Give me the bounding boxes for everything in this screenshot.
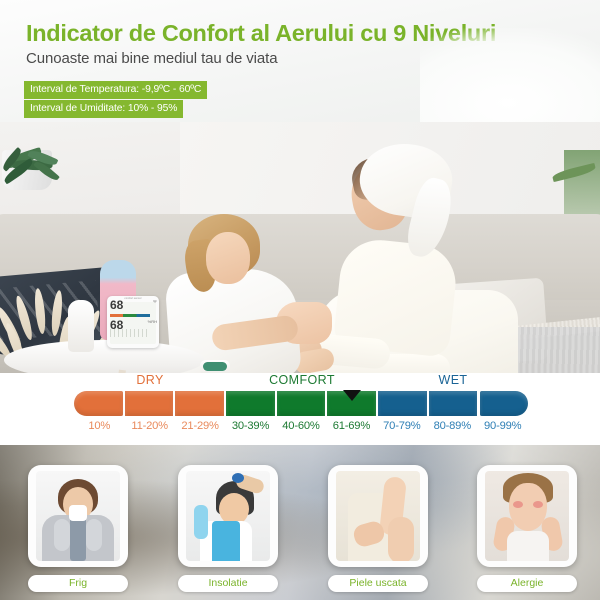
side-table — [4, 340, 204, 373]
current-level-pointer-icon — [343, 390, 361, 401]
condition-label-frig: Frig — [28, 575, 128, 592]
temperature-range-badge: Interval de Temperatura: -9,9ºC - 60ºC — [24, 81, 207, 99]
plant-pot-icon — [2, 150, 52, 190]
category-label-comfort: COMFORT — [226, 373, 378, 387]
scale-segment-6 — [327, 391, 376, 416]
category-label-wet: WET — [378, 373, 528, 387]
page-title: Indicator de Confort al Aerului cu 9 Niv… — [26, 20, 496, 47]
scale-label-4: 30-39% — [225, 420, 275, 436]
scale-label-7: 70-79% — [377, 420, 427, 436]
scale-label-5: 40-60% — [276, 420, 326, 436]
humidity-range-badge: Interval de Umiditate: 10% - 95% — [24, 100, 183, 118]
condition-label-insolatie: Insolatie — [178, 575, 278, 592]
page-subtitle: Cunoaste mai bine mediul tau de viata — [26, 50, 277, 67]
scale-segment-8 — [429, 391, 478, 416]
cream-jar — [200, 360, 230, 373]
condition-card-frig[interactable] — [28, 465, 128, 567]
white-bottle — [68, 300, 94, 352]
header-section: Indicator de Confort al Aerului cu 9 Niv… — [0, 0, 600, 122]
condition-card-insolatie[interactable] — [178, 465, 278, 567]
condition-label-alergie: Alergie — [477, 575, 577, 592]
allergy-face-icon — [485, 471, 569, 561]
conditions-section: Frig Insolatie Piele uscata Alergie — [0, 445, 600, 600]
dry-skin-arm-icon — [336, 471, 420, 561]
scale-segment-3 — [175, 391, 224, 416]
category-label-dry: DRY — [74, 373, 226, 387]
product-infographic: Indicator de Confort al Aerului cu 9 Niv… — [0, 0, 600, 600]
scale-label-9: 90-99% — [478, 420, 528, 436]
scale-segment-9 — [480, 391, 529, 416]
device-temperature-unit: ºF — [153, 299, 157, 304]
device-humidity-unit: %RH — [148, 319, 157, 324]
thermo-hygrometer-device: comfort sensor 68 ºF 68 %RH — [107, 296, 159, 348]
sneezing-person-icon — [36, 471, 120, 561]
hero-lifestyle-photo — [0, 122, 600, 373]
device-temperature-value: 68 — [110, 299, 123, 311]
child-face — [206, 232, 250, 284]
overheated-person-icon — [186, 471, 270, 561]
scale-segment-4 — [226, 391, 275, 416]
scale-segment-1 — [74, 391, 123, 416]
scale-label-2: 11-20% — [124, 420, 174, 436]
scale-label-1: 10% — [74, 420, 124, 436]
device-comfort-stripe — [110, 314, 150, 317]
humidity-scale-labels: 10%11-20%21-29%30-39%40-60%61-69%70-79%8… — [74, 420, 528, 436]
scale-segment-7 — [378, 391, 427, 416]
scale-label-8: 80-89% — [427, 420, 477, 436]
device-scale-ticks — [110, 329, 150, 337]
scale-segment-5 — [277, 391, 326, 416]
scale-segment-2 — [125, 391, 174, 416]
condition-card-piele-uscata[interactable] — [328, 465, 428, 567]
scale-label-3: 21-29% — [175, 420, 225, 436]
condition-card-alergie[interactable] — [477, 465, 577, 567]
scale-label-6: 61-69% — [326, 420, 376, 436]
condition-label-piele-uscata: Piele uscata — [328, 575, 428, 592]
comfort-indicator-band: DRY COMFORT WET 10%11-20%21-29%30-39%40-… — [0, 373, 600, 445]
humidity-scale-bar — [74, 391, 528, 416]
